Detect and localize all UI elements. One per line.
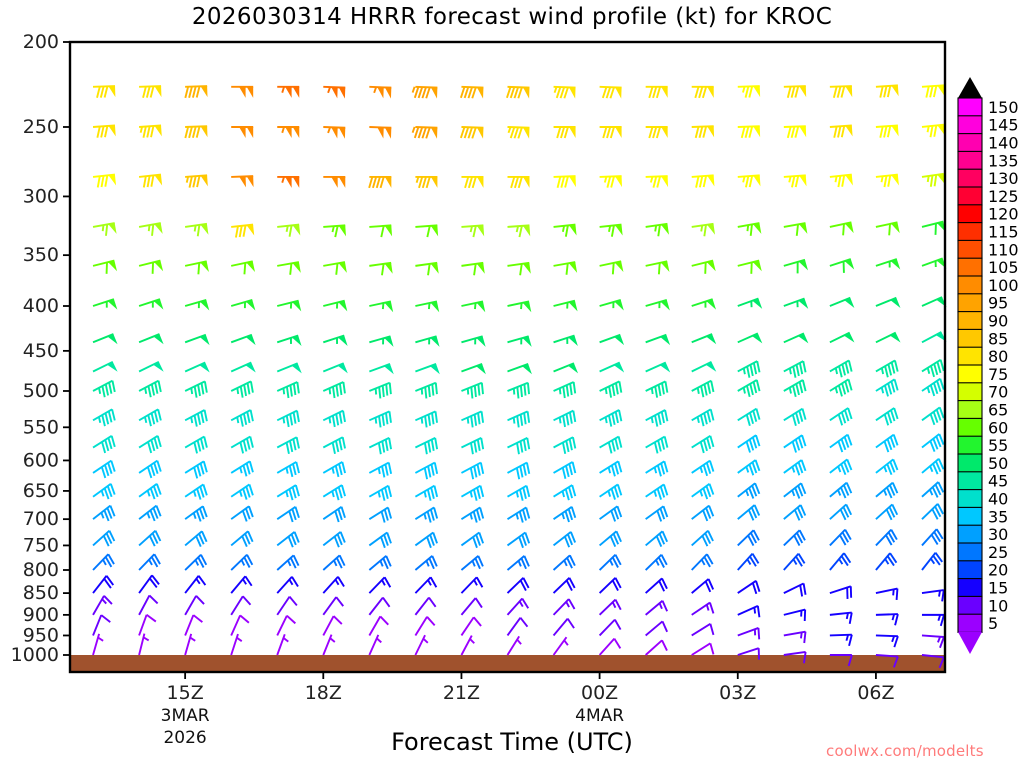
colorbar-tick-label: 70 bbox=[988, 383, 1008, 402]
x-tick-label: 06Z bbox=[857, 682, 894, 704]
y-tick-label: 200 bbox=[23, 31, 59, 53]
colorbar-cell bbox=[958, 507, 982, 525]
y-tick-label: 400 bbox=[23, 295, 59, 317]
colorbar-cell bbox=[958, 525, 982, 543]
y-tick-label: 350 bbox=[23, 244, 59, 266]
x-tick-label: 00Z bbox=[581, 682, 618, 704]
x-tick-label: 03Z bbox=[719, 682, 756, 704]
colorbar-tick-label: 15 bbox=[988, 579, 1008, 598]
colorbar-tick-label: 115 bbox=[988, 223, 1019, 242]
colorbar-cell bbox=[958, 579, 982, 597]
y-tick-label: 850 bbox=[23, 582, 59, 604]
colorbar-cell bbox=[958, 294, 982, 312]
colorbar-cell bbox=[958, 365, 982, 383]
colorbar-tick-label: 145 bbox=[988, 116, 1019, 135]
colorbar-under-arrow bbox=[958, 632, 982, 654]
colorbar-cell bbox=[958, 596, 982, 614]
colorbar-tick-label: 50 bbox=[988, 454, 1008, 473]
y-tick-label: 1000 bbox=[11, 644, 59, 666]
colorbar: 1501451401351301251201151101051009590858… bbox=[958, 77, 1019, 654]
colorbar-cell bbox=[958, 490, 982, 508]
colorbar-tick-label: 130 bbox=[988, 169, 1019, 188]
colorbar-tick-label: 25 bbox=[988, 543, 1008, 562]
colorbar-tick-label: 20 bbox=[988, 561, 1008, 580]
colorbar-tick-label: 40 bbox=[988, 490, 1008, 509]
colorbar-cell bbox=[958, 329, 982, 347]
colorbar-tick-label: 85 bbox=[988, 329, 1008, 348]
y-tick-label: 300 bbox=[23, 185, 59, 207]
colorbar-cell bbox=[958, 276, 982, 294]
colorbar-cell bbox=[958, 205, 982, 223]
x-tick-label: 15Z bbox=[167, 682, 204, 704]
chart-svg: 2002503003504004505005506006507007508008… bbox=[0, 0, 1024, 768]
ground-bar bbox=[70, 655, 945, 672]
colorbar-cell bbox=[958, 134, 982, 152]
y-tick-label: 700 bbox=[23, 508, 59, 530]
colorbar-cell bbox=[958, 169, 982, 187]
colorbar-tick-label: 150 bbox=[988, 98, 1019, 117]
x-tick-label: 18Z bbox=[305, 682, 342, 704]
colorbar-cell bbox=[958, 561, 982, 579]
colorbar-tick-label: 60 bbox=[988, 418, 1008, 437]
colorbar-cell bbox=[958, 383, 982, 401]
colorbar-cell bbox=[958, 223, 982, 241]
x-tick-date: 3MAR bbox=[161, 706, 210, 726]
y-tick-label: 900 bbox=[23, 604, 59, 626]
credit-watermark: coolwx.com/modelts bbox=[826, 742, 984, 760]
colorbar-cell bbox=[958, 258, 982, 276]
y-tick-label: 750 bbox=[23, 534, 59, 556]
y-tick-label: 550 bbox=[23, 416, 59, 438]
colorbar-cell bbox=[958, 98, 982, 116]
colorbar-cell bbox=[958, 347, 982, 365]
colorbar-tick-label: 80 bbox=[988, 347, 1008, 366]
colorbar-tick-label: 10 bbox=[988, 596, 1008, 615]
colorbar-tick-label: 45 bbox=[988, 472, 1008, 491]
colorbar-tick-label: 105 bbox=[988, 258, 1019, 277]
colorbar-cell bbox=[958, 312, 982, 330]
plot-area: 2002503003504004505005506006507007508008… bbox=[0, 0, 1024, 768]
colorbar-tick-label: 55 bbox=[988, 436, 1008, 455]
y-tick-label: 800 bbox=[23, 559, 59, 581]
x-tick-label: 21Z bbox=[443, 682, 480, 704]
colorbar-cell bbox=[958, 614, 982, 632]
y-tick-label: 450 bbox=[23, 340, 59, 362]
colorbar-cell bbox=[958, 187, 982, 205]
colorbar-tick-label: 35 bbox=[988, 507, 1008, 526]
colorbar-over-arrow bbox=[958, 77, 982, 98]
colorbar-cell bbox=[958, 116, 982, 134]
colorbar-cell bbox=[958, 418, 982, 436]
colorbar-cell bbox=[958, 454, 982, 472]
colorbar-tick-label: 65 bbox=[988, 401, 1008, 420]
colorbar-tick-label: 120 bbox=[988, 205, 1019, 224]
colorbar-tick-label: 140 bbox=[988, 134, 1019, 153]
y-tick-label: 650 bbox=[23, 480, 59, 502]
colorbar-tick-label: 110 bbox=[988, 240, 1019, 259]
y-axis: 2002503003504004505005506006507007508008… bbox=[11, 31, 70, 666]
colorbar-cell bbox=[958, 472, 982, 490]
wind-profile-chart: 2026030314 HRRR forecast wind profile (k… bbox=[0, 0, 1024, 768]
colorbar-tick-label: 100 bbox=[988, 276, 1019, 295]
y-tick-label: 500 bbox=[23, 380, 59, 402]
colorbar-tick-label: 30 bbox=[988, 525, 1008, 544]
x-tick-date: 4MAR bbox=[575, 706, 624, 726]
colorbar-tick-label: 75 bbox=[988, 365, 1008, 384]
y-tick-label: 250 bbox=[23, 116, 59, 138]
colorbar-tick-label: 5 bbox=[988, 614, 998, 633]
colorbar-cell bbox=[958, 401, 982, 419]
colorbar-cell bbox=[958, 240, 982, 258]
colorbar-tick-label: 90 bbox=[988, 312, 1008, 331]
colorbar-tick-label: 125 bbox=[988, 187, 1019, 206]
colorbar-tick-label: 95 bbox=[988, 294, 1008, 313]
y-tick-label: 600 bbox=[23, 449, 59, 471]
colorbar-tick-label: 135 bbox=[988, 151, 1019, 170]
colorbar-cell bbox=[958, 151, 982, 169]
colorbar-cell bbox=[958, 543, 982, 561]
colorbar-cell bbox=[958, 436, 982, 454]
